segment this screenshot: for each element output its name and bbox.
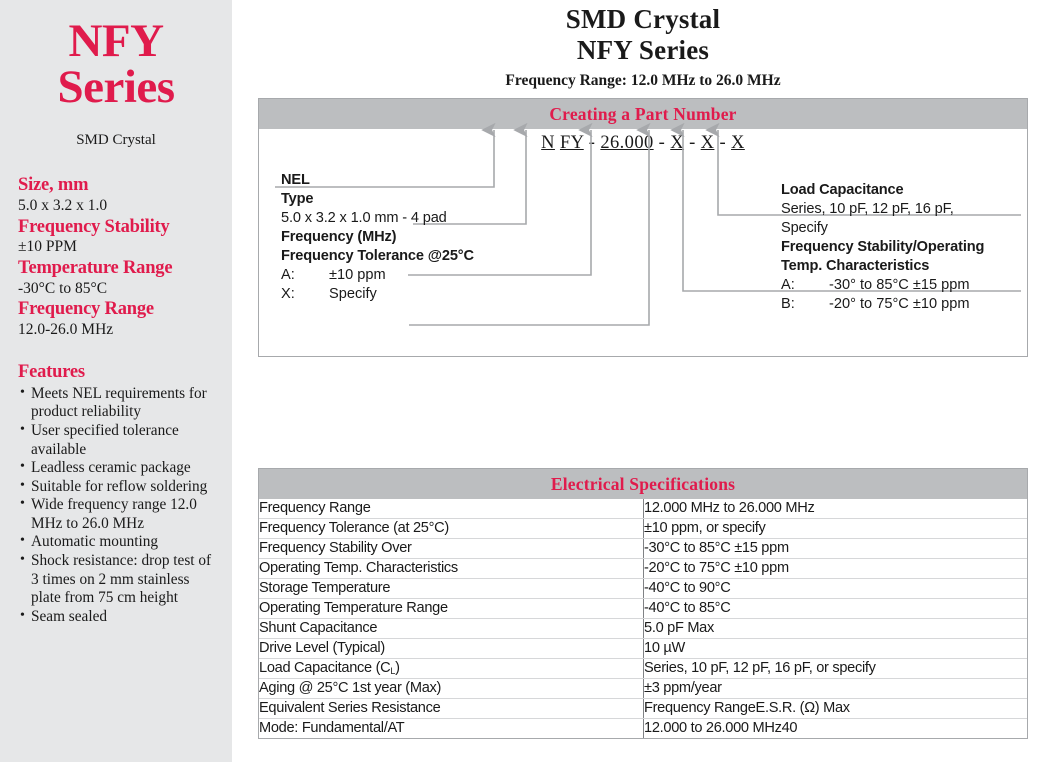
- label-stability-line-1: Frequency Stability/Operating: [781, 238, 1021, 257]
- list-item: User specified tolerance available: [20, 422, 216, 459]
- spec-value-col-2: 40: [782, 720, 798, 736]
- list-item: Meets NEL requirements for product relia…: [20, 385, 216, 422]
- table-row: Frequency Tolerance (at 25°C)±10 ppm, or…: [259, 519, 1027, 539]
- table-row: Frequency Stability Over-30°C to 85°C ±1…: [259, 539, 1027, 559]
- pn-segment-type: FY: [560, 133, 584, 153]
- spec-parameter: Equivalent Series Resistance: [259, 699, 644, 719]
- spec-value: -20°C to 75°C ±10 ppm: [644, 559, 1028, 579]
- features-heading: Features: [14, 362, 218, 383]
- spec-heading: Size, mm: [18, 175, 218, 197]
- spec-parameter: Operating Temperature Range: [259, 599, 644, 619]
- features-list: Meets NEL requirements for product relia…: [14, 385, 218, 627]
- spec-parameter: Frequency Range: [259, 499, 644, 519]
- list-item: Seam sealed: [20, 608, 216, 627]
- part-number-panel: Creating a Part Number N FY - 26.000 - X…: [258, 98, 1028, 357]
- option-key: A:: [781, 276, 829, 295]
- spec-value: -40°C to 85°C: [644, 599, 1028, 619]
- spec-value: 10 µW: [644, 639, 1028, 659]
- spec-parameter: Load Capacitance (CL): [259, 659, 644, 679]
- table-row: Operating Temperature Range-40°C to 85°C: [259, 599, 1027, 619]
- part-number-left-labels: NEL Type 5.0 x 3.2 x 1.0 mm - 4 pad Freq…: [281, 171, 631, 304]
- table-row: Drive Level (Typical)10 µW: [259, 639, 1027, 659]
- sidebar-spec-list: Size, mm 5.0 x 3.2 x 1.0 Frequency Stabi…: [14, 175, 218, 340]
- option-key: X:: [281, 285, 329, 304]
- label-frequency: Frequency (MHz): [281, 228, 631, 247]
- list-item: Leadless ceramic package: [20, 459, 216, 478]
- pn-segment-stability: X: [701, 133, 715, 153]
- electrical-specifications-table: Frequency Range12.000 MHz to 26.000 MHzF…: [259, 499, 1027, 738]
- spec-parameter: Storage Temperature: [259, 579, 644, 599]
- table-row: Mode: Fundamental/AT12.000 to 26.000 MHz…: [259, 719, 1027, 739]
- brand-line-2: Series: [14, 64, 218, 110]
- pn-segment-tolerance: X: [670, 133, 684, 153]
- list-item: Wide frequency range 12.0 MHz to 26.0 MH…: [20, 496, 216, 533]
- spec-parameter: Shunt Capacitance: [259, 619, 644, 639]
- spec-value: 5.0 x 3.2 x 1.0: [18, 197, 218, 216]
- pn-segment-nel: N: [541, 133, 555, 153]
- label-load-capacitance: Load Capacitance: [781, 181, 1021, 200]
- part-number-string: N FY - 26.000 - X - X - X: [259, 133, 1027, 154]
- list-item: Automatic mounting: [20, 533, 216, 552]
- label-nel: NEL: [281, 171, 631, 190]
- title-frequency-range: Frequency Range: 12.0 MHz to 26.0 MHz: [258, 72, 1028, 90]
- option-value: -20° to 75°C ±10 ppm: [829, 295, 970, 314]
- part-number-right-labels: Load Capacitance Series, 10 pF, 12 pF, 1…: [781, 181, 1021, 314]
- spec-value: 12.000 to 26.000 MHz40: [644, 719, 1028, 739]
- spec-value-col-1: 12.000 to 26.000 MHz: [644, 720, 782, 736]
- list-item: Suitable for reflow soldering: [20, 478, 216, 497]
- label-load-capacitance-value-2: Specify: [781, 219, 1021, 238]
- spec-parameter: Frequency Stability Over: [259, 539, 644, 559]
- spec-parameter: Frequency Tolerance (at 25°C): [259, 519, 644, 539]
- spec-heading: Frequency Stability: [18, 217, 218, 239]
- brand-line-1: NFY: [68, 15, 163, 67]
- label-stability-line-2: Temp. Characteristics: [781, 257, 1021, 276]
- spec-parameter: Operating Temp. Characteristics: [259, 559, 644, 579]
- pn-segment-frequency: 26.000: [600, 133, 653, 153]
- spec-value: Series, 10 pF, 12 pF, 16 pF, or specify: [644, 659, 1028, 679]
- table-row: Operating Temp. Characteristics-20°C to …: [259, 559, 1027, 579]
- spec-heading: Temperature Range: [18, 258, 218, 280]
- option-value: -30° to 85°C ±15 ppm: [829, 276, 970, 295]
- table-row: Storage Temperature-40°C to 90°C: [259, 579, 1027, 599]
- spec-value: -30°C to 85°C ±15 ppm: [644, 539, 1028, 559]
- option-value: ±10 ppm: [329, 266, 386, 285]
- label-type: Type: [281, 190, 631, 209]
- list-item: Shock resistance: drop test of 3 times o…: [20, 552, 216, 608]
- spec-parameter: Drive Level (Typical): [259, 639, 644, 659]
- table-row: Frequency Range12.000 MHz to 26.000 MHz: [259, 499, 1027, 519]
- spec-heading: Frequency Range: [18, 299, 218, 321]
- stability-option-row: A: -30° to 85°C ±15 ppm: [781, 276, 1021, 295]
- option-value: Specify: [329, 285, 377, 304]
- spec-value: -30°C to 85°C: [18, 280, 218, 299]
- label-tolerance: Frequency Tolerance @25°C: [281, 247, 631, 266]
- spec-value-col-1: Frequency Range: [644, 700, 756, 716]
- spec-value: 12.000 MHz to 26.000 MHz: [644, 499, 1028, 519]
- label-type-value: 5.0 x 3.2 x 1.0 mm - 4 pad: [281, 209, 631, 228]
- table-row: Shunt Capacitance5.0 pF Max: [259, 619, 1027, 639]
- electrical-specifications-header: Electrical Specifications: [259, 469, 1027, 499]
- table-row: Aging @ 25°C 1st year (Max)±3 ppm/year: [259, 679, 1027, 699]
- spec-parameter: Aging @ 25°C 1st year (Max): [259, 679, 644, 699]
- spec-parameter: Mode: Fundamental/AT: [259, 719, 644, 739]
- table-row: Equivalent Series ResistanceFrequency Ra…: [259, 699, 1027, 719]
- label-load-capacitance-value-1: Series, 10 pF, 12 pF, 16 pF,: [781, 200, 1021, 219]
- part-number-header: Creating a Part Number: [259, 99, 1027, 129]
- tolerance-option-row: A: ±10 ppm: [281, 266, 631, 285]
- sidebar-subtitle: SMD Crystal: [14, 132, 218, 149]
- page-title: SMD Crystal NFY Series Frequency Range: …: [258, 4, 1028, 90]
- option-key: A:: [281, 266, 329, 285]
- spec-value-col-2: E.S.R. (Ω) Max: [756, 700, 850, 716]
- stability-option-row: B: -20° to 75°C ±10 ppm: [781, 295, 1021, 314]
- pn-segment-load-cap: X: [731, 133, 745, 153]
- option-key: B:: [781, 295, 829, 314]
- title-line-1: SMD Crystal: [258, 4, 1028, 35]
- tolerance-option-row: X: Specify: [281, 285, 631, 304]
- spec-value: Frequency RangeE.S.R. (Ω) Max: [644, 699, 1028, 719]
- spec-value: 12.0-26.0 MHz: [18, 321, 218, 340]
- spec-value: 5.0 pF Max: [644, 619, 1028, 639]
- spec-value: ±10 PPM: [18, 238, 218, 257]
- title-line-2: NFY Series: [258, 35, 1028, 66]
- spec-value: -40°C to 90°C: [644, 579, 1028, 599]
- table-row: Load Capacitance (CL)Series, 10 pF, 12 p…: [259, 659, 1027, 679]
- sidebar: NFY Series SMD Crystal Size, mm 5.0 x 3.…: [0, 0, 232, 762]
- brand-title: NFY Series: [14, 18, 218, 110]
- spec-value: ±3 ppm/year: [644, 679, 1028, 699]
- electrical-specifications-panel: Electrical Specifications Frequency Rang…: [258, 468, 1028, 739]
- spec-value: ±10 ppm, or specify: [644, 519, 1028, 539]
